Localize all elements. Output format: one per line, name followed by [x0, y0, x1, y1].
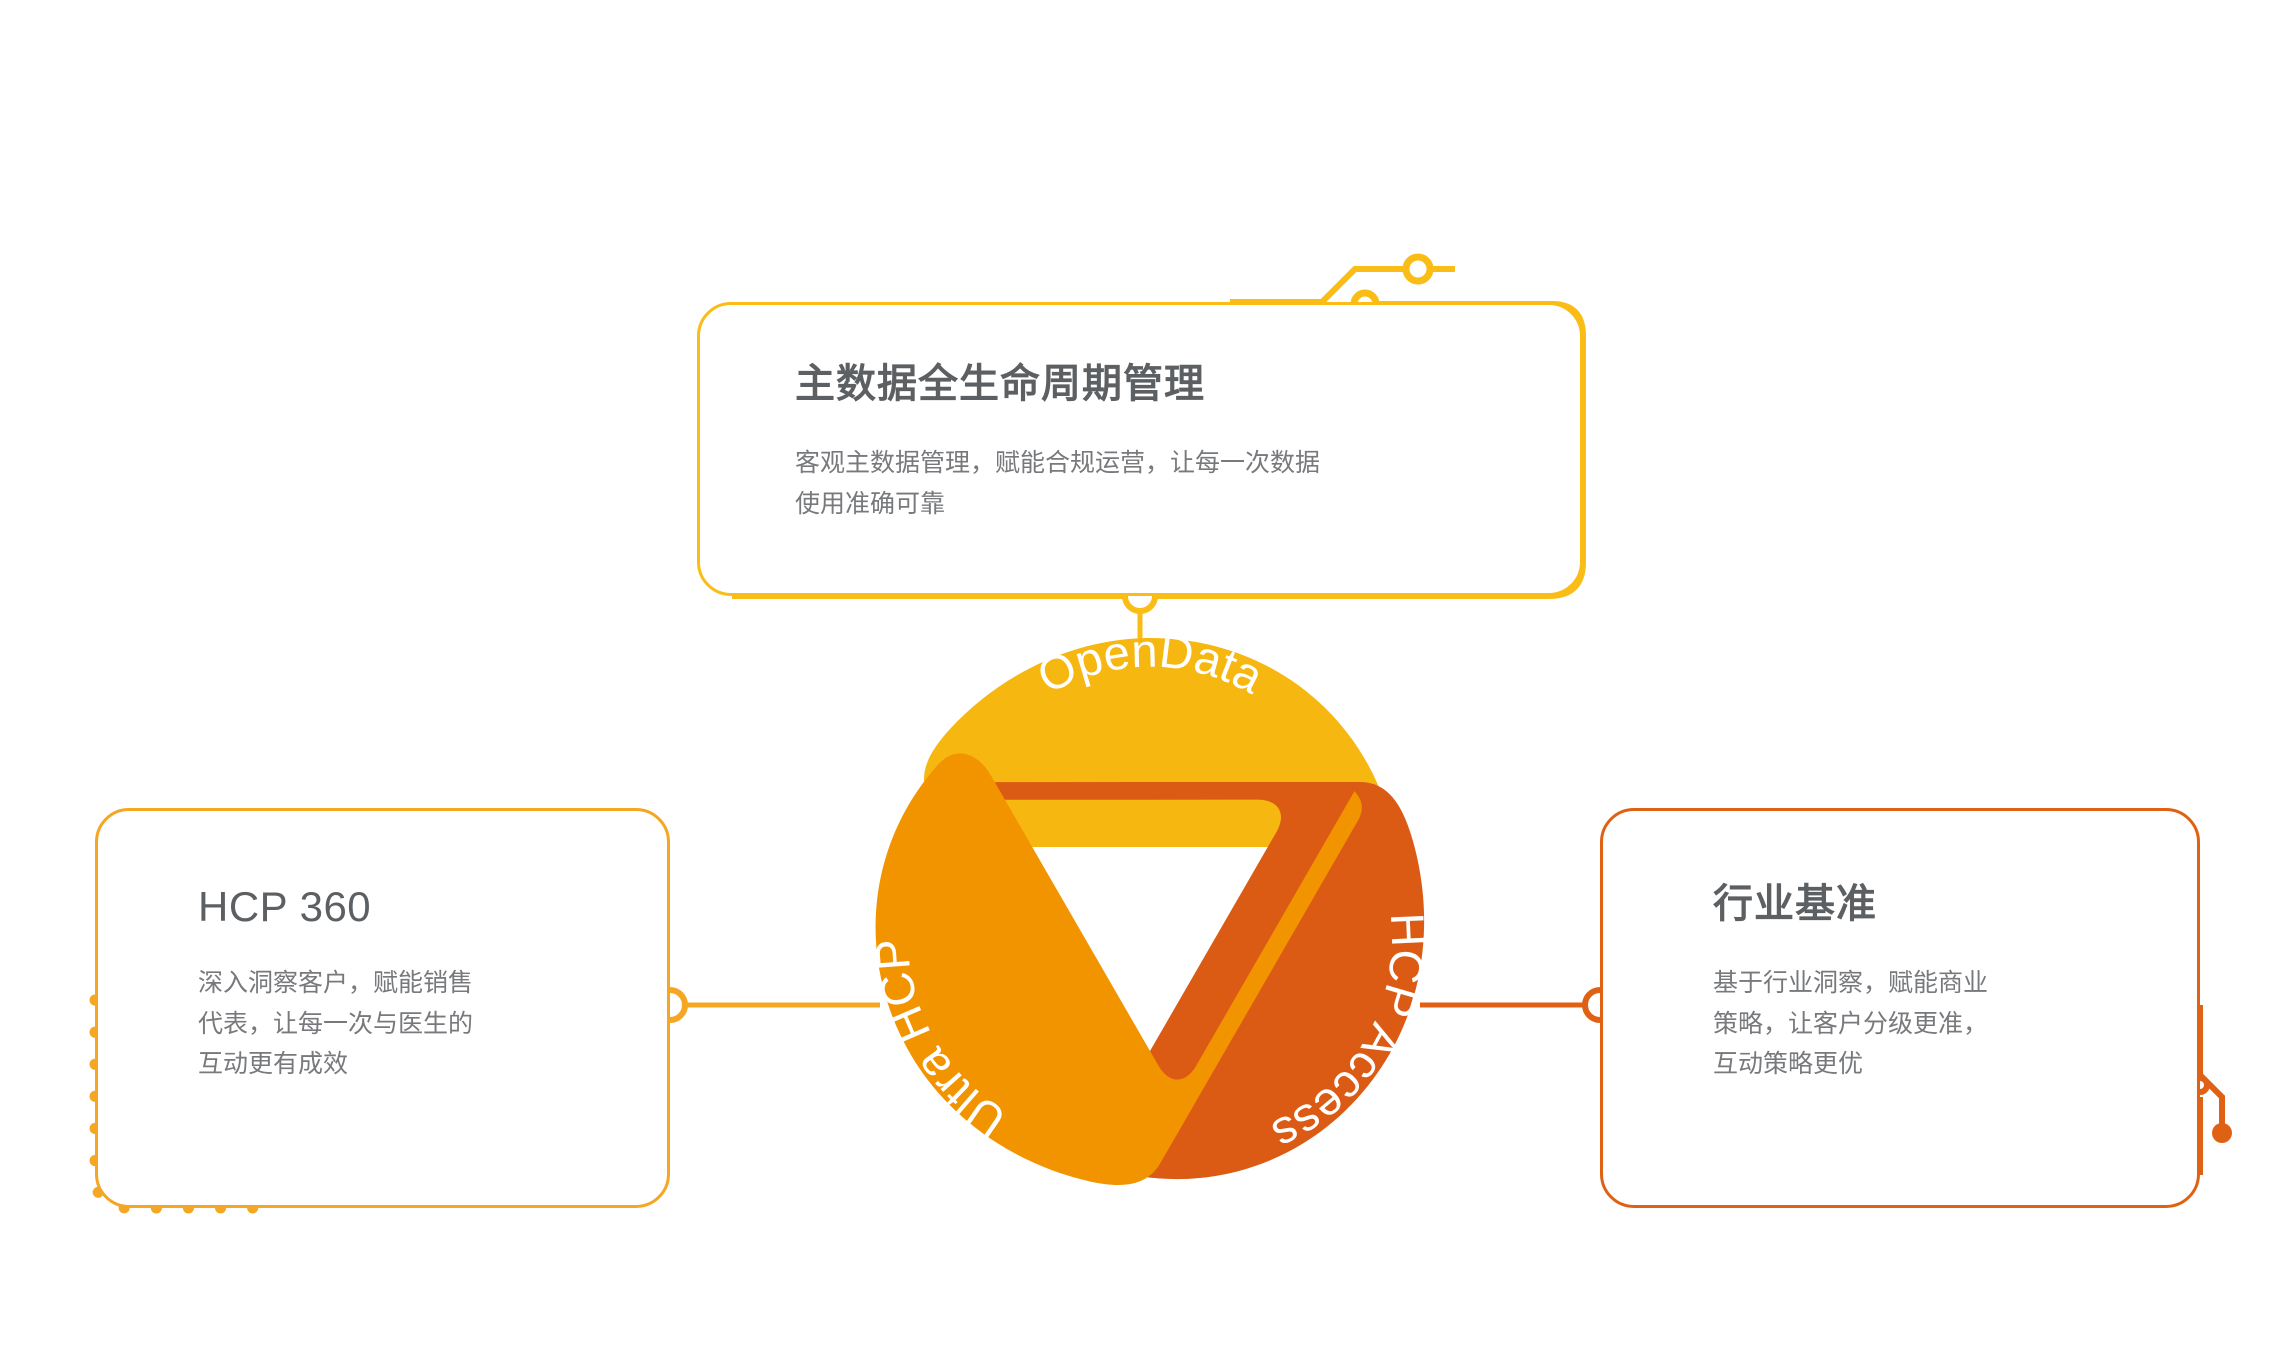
card-master-data[interactable]: 主数据全生命周期管理 客观主数据管理，赋能合规运营，让每一次数据 使用准确可靠 [697, 302, 1583, 596]
trace-top-upper-node [1406, 257, 1430, 281]
trace-right-branch [2200, 1005, 2222, 1130]
trace-right-branch-terminal [2212, 1123, 2232, 1143]
card-left-description: 深入洞察客户，赋能销售 代表，让每一次与医生的 互动更有成效 [198, 963, 618, 1085]
card-left-title: HCP 360 [198, 883, 371, 931]
card-right-title: 行业基准 [1713, 881, 1877, 927]
card-right-description: 基于行业洞察，赋能商业 策略，让客户分级更准， 互动策略更优 [1713, 963, 2153, 1085]
card-top-description: 客观主数据管理，赋能合规运营，让每一次数据 使用准确可靠 [795, 443, 1515, 524]
card-top-title: 主数据全生命周期管理 [795, 361, 1205, 407]
diagram-canvas: 主数据全生命周期管理 客观主数据管理，赋能合规运营，让每一次数据 使用准确可靠 … [0, 0, 2282, 1352]
trace-top-upper [1230, 269, 1455, 302]
card-hcp-360[interactable]: HCP 360 深入洞察客户，赋能销售 代表，让每一次与医生的 互动更有成效 [95, 808, 670, 1208]
card-industry-benchmark[interactable]: 行业基准 基于行业洞察，赋能商业 策略，让客户分级更准， 互动策略更优 [1600, 808, 2200, 1208]
triskelion-logo[interactable]: OpenData HCP Access Ultra HCP [855, 620, 1445, 1210]
